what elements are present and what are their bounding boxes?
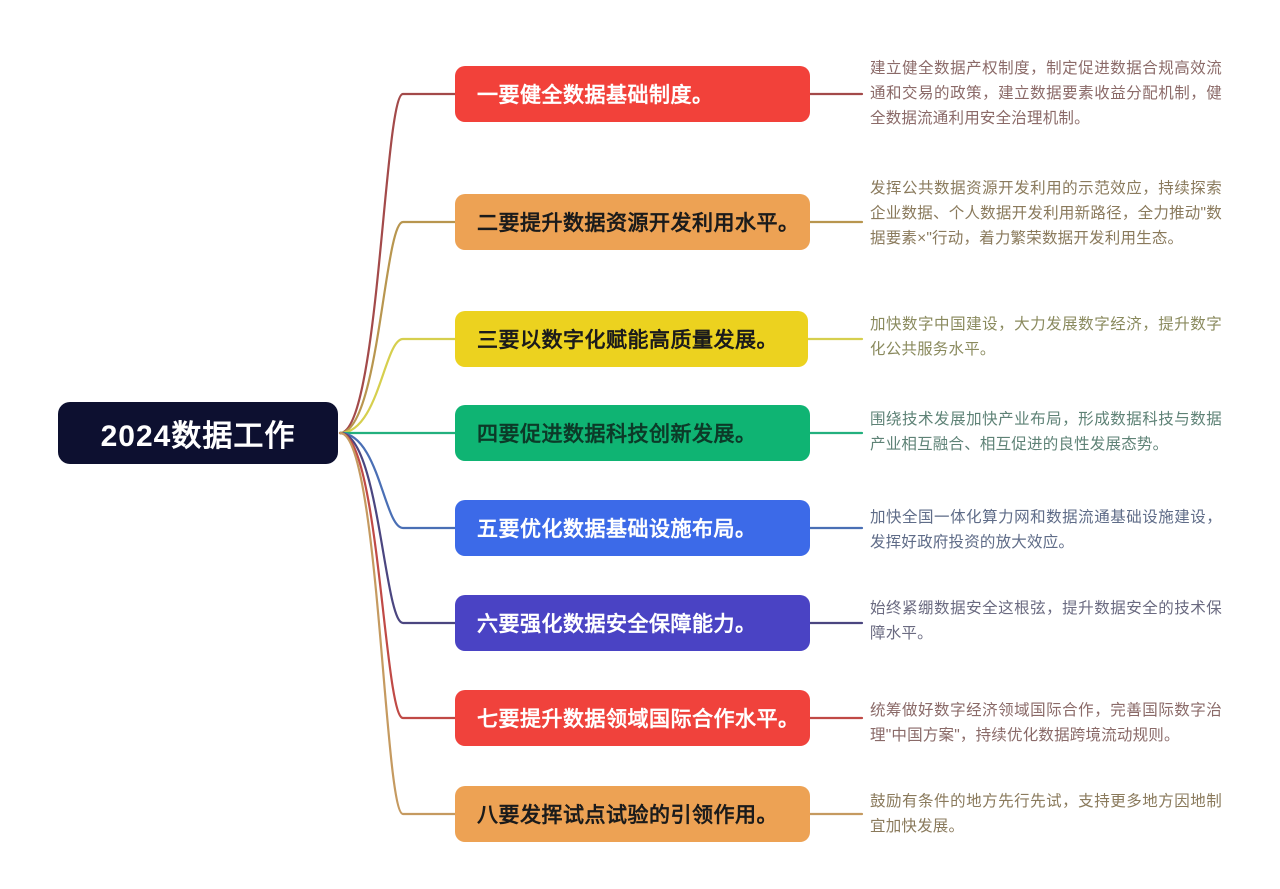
branch-node-2[interactable]: 二要提升数据资源开发利用水平。 [455, 194, 810, 250]
branch-description-5: 加快全国一体化算力网和数据流通基础设施建设，发挥好政府投资的放大效应。 [870, 505, 1222, 555]
branch-node-7[interactable]: 七要提升数据领域国际合作水平。 [455, 690, 810, 746]
root-node[interactable]: 2024数据工作 [58, 402, 338, 464]
branch-node-5[interactable]: 五要优化数据基础设施布局。 [455, 500, 810, 556]
connector-root-to-branch-2 [340, 222, 455, 433]
connector-root-to-branch-8 [340, 433, 455, 814]
mindmap-canvas: 2024数据工作 一要健全数据基础制度。 建立健全数据产权制度，制定促进数据合规… [0, 0, 1280, 889]
branch-label-1: 一要健全数据基础制度。 [477, 79, 714, 109]
branch-node-6[interactable]: 六要强化数据安全保障能力。 [455, 595, 810, 651]
branch-node-8[interactable]: 八要发挥试点试验的引领作用。 [455, 786, 810, 842]
branch-description-2: 发挥公共数据资源开发利用的示范效应，持续探索企业数据、个人数据开发利用新路径，全… [870, 176, 1222, 251]
branch-label-4: 四要促进数据科技创新发展。 [477, 418, 757, 448]
branch-description-4: 围绕技术发展加快产业布局，形成数据科技与数据产业相互融合、相互促进的良性发展态势… [870, 407, 1222, 457]
connector-root-to-branch-3 [340, 339, 455, 433]
branch-node-3[interactable]: 三要以数字化赋能高质量发展。 [455, 311, 808, 367]
connector-root-to-branch-5 [340, 433, 455, 528]
branch-node-4[interactable]: 四要促进数据科技创新发展。 [455, 405, 810, 461]
connector-root-to-branch-7 [340, 433, 455, 718]
connector-root-to-branch-1 [340, 94, 455, 433]
branch-description-3: 加快数字中国建设，大力发展数字经济，提升数字化公共服务水平。 [870, 312, 1222, 362]
branch-label-8: 八要发挥试点试验的引领作用。 [477, 799, 778, 829]
branch-node-1[interactable]: 一要健全数据基础制度。 [455, 66, 810, 122]
branch-label-3: 三要以数字化赋能高质量发展。 [477, 324, 778, 354]
branch-description-7: 统筹做好数字经济领域国际合作，完善国际数字治理"中国方案"，持续优化数据跨境流动… [870, 698, 1222, 748]
branch-label-6: 六要强化数据安全保障能力。 [477, 608, 757, 638]
branch-description-1: 建立健全数据产权制度，制定促进数据合规高效流通和交易的政策，建立数据要素收益分配… [870, 56, 1222, 131]
branch-description-8: 鼓励有条件的地方先行先试，支持更多地方因地制宜加快发展。 [870, 789, 1222, 839]
branch-label-7: 七要提升数据领域国际合作水平。 [477, 703, 800, 733]
branch-label-2: 二要提升数据资源开发利用水平。 [477, 207, 800, 237]
root-node-label: 2024数据工作 [101, 411, 296, 455]
branch-description-6: 始终紧绷数据安全这根弦，提升数据安全的技术保障水平。 [870, 596, 1222, 646]
branch-label-5: 五要优化数据基础设施布局。 [477, 513, 757, 543]
connector-root-to-branch-6 [340, 433, 455, 623]
